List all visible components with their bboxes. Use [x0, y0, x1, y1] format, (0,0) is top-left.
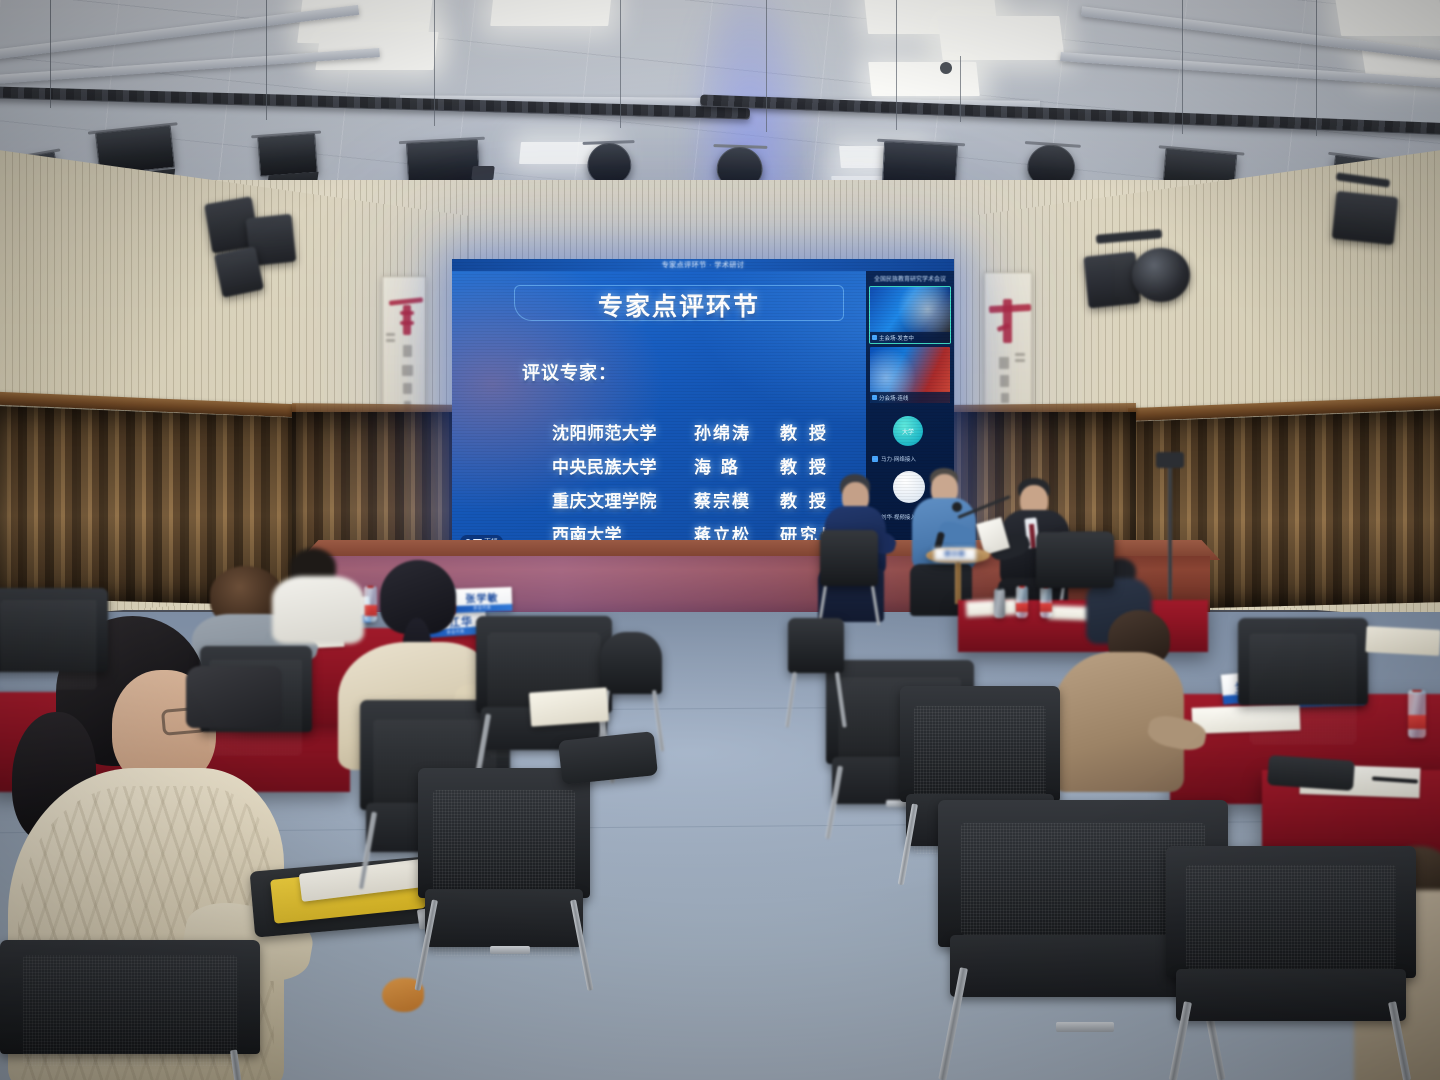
ceiling-panel-light [490, 0, 612, 26]
ptz-dome-camera [1086, 232, 1196, 324]
chair-seat [425, 889, 583, 947]
water-bottle [1408, 690, 1426, 738]
wall-stage-light [196, 188, 296, 298]
table-paper [966, 599, 1019, 618]
light-hanging-cable [50, 0, 51, 108]
slide-title: 专家点评环节 [514, 287, 844, 323]
pole-light-head [1156, 452, 1184, 468]
light-hanging-cable [266, 0, 267, 120]
microphone-icon [872, 395, 877, 400]
stage-chair [820, 530, 878, 626]
light-hanging-cable [766, 0, 767, 132]
scroll-ink-mark [999, 357, 1009, 369]
expert-name: 孙绵涛 [694, 419, 780, 444]
light-hanging-cable [620, 0, 621, 128]
audience-chair [0, 588, 108, 708]
stage-nameplate: 蔡宗模 [934, 548, 976, 561]
chair-back [600, 632, 662, 694]
chair-leg-bracket [490, 946, 530, 954]
scroll-ink-mark [386, 333, 395, 336]
slide-header-text: 专家点评环节 · 学术研讨 [662, 260, 745, 270]
scroll-red-stroke [1003, 299, 1012, 343]
video-tile-caption-bar: 主会场·发言中 [870, 332, 950, 343]
side-table-leg [955, 561, 960, 604]
participant-label: 马力·网络接入 [881, 455, 916, 463]
chair-leg [230, 1050, 242, 1080]
stage-light-fixture [250, 116, 324, 185]
open-book [529, 687, 609, 726]
expert-name: 蔡宗模 [694, 487, 780, 512]
expert-organization: 重庆文理学院 [552, 487, 694, 512]
pole-shaft [1168, 460, 1172, 610]
scroll-ink-mark [403, 345, 412, 357]
mic-boom-arm [957, 495, 1010, 519]
light-housing [214, 246, 264, 298]
audience-chair [1238, 618, 1368, 768]
water-bottle [1016, 586, 1028, 618]
scroll-ink-mark [1015, 359, 1025, 362]
scroll-red-stroke [400, 311, 414, 315]
bottle-label [1408, 715, 1426, 729]
video-tile-caption-bar: 分会场·连线 [870, 392, 950, 403]
bag [186, 666, 282, 728]
chair-mesh-texture [23, 955, 236, 1066]
chair-seat [1176, 969, 1406, 1021]
chair-back [820, 530, 878, 586]
stage-light-pole [1162, 460, 1178, 620]
audience-member-right-tan [1052, 610, 1202, 800]
video-tile-caption: 分会场·连线 [879, 394, 908, 402]
conference-hall-photo: 专家点评环节 · 学术研讨 专家点评环节 评议专家： 沈阳师范大学 孙绵涛 教 … [0, 0, 1440, 1080]
camera-mount-arm [1096, 229, 1163, 244]
audience-chair [0, 940, 260, 1080]
expert-organization: 中央民族大学 [552, 453, 694, 478]
scroll-ink-mark [1015, 353, 1025, 356]
scroll-ink-mark [403, 383, 412, 394]
video-tile-caption: 主会场·发言中 [879, 334, 914, 342]
light-hanging-cable [1182, 0, 1183, 134]
audience-chair [1166, 846, 1416, 1080]
ceiling-speaker [471, 166, 494, 180]
bottle-label [1016, 603, 1028, 613]
scroll-ink-mark [402, 365, 413, 376]
bottle-cap [996, 588, 1002, 590]
light-hanging-cable [1316, 0, 1317, 136]
ceiling-panel-light [937, 16, 1064, 60]
audience-chair [418, 768, 590, 992]
expert-rank: 教 授 [780, 419, 829, 444]
microphone-icon [872, 456, 878, 462]
scroll-ink-mark [1000, 375, 1009, 387]
participant-row[interactable]: 马力·网络接入 [870, 453, 950, 464]
expert-organization: 沈阳师范大学 [552, 419, 694, 444]
audience-chair [1036, 532, 1114, 628]
avatar-label: 大学 [902, 427, 914, 436]
bottle-cap [1019, 586, 1026, 588]
microphone-capsule-icon [952, 502, 962, 512]
chair-back [788, 618, 844, 673]
chair-mesh-texture [1, 600, 98, 689]
stage-nameplate-text: 蔡宗模 [944, 552, 965, 558]
expert-row: 沈阳师范大学 孙绵涛 教 授 [552, 419, 882, 444]
chair-leg-bracket [1056, 1022, 1114, 1032]
participant-avatar[interactable]: 大学 [893, 416, 923, 446]
camera-dome-icon [1132, 248, 1190, 302]
water-thermos [994, 588, 1005, 618]
chair-back [1036, 532, 1114, 588]
ceiling-panel-light [868, 62, 980, 96]
expert-name: 海 路 [694, 453, 780, 478]
scroll-red-stroke [403, 305, 411, 335]
chair-tablet-arm [1267, 755, 1355, 791]
chair-mesh-texture [1250, 633, 1357, 744]
light-hanging-cable [434, 0, 435, 126]
bottle-cap [1412, 690, 1422, 692]
scroll-ink-mark [1001, 393, 1009, 403]
folding-chair [788, 618, 844, 728]
video-panel-title: 全国民族教育研究学术会议 [869, 274, 951, 283]
scroll-ink-mark [386, 339, 395, 342]
video-tile[interactable]: 分会场·连线 [870, 347, 950, 403]
wall-stage-light [1330, 176, 1420, 254]
slide-subtitle: 评议专家： [522, 359, 617, 385]
chair-mesh-texture [1186, 865, 1396, 969]
light-hanging-cable [896, 0, 897, 130]
microphone-icon [872, 335, 877, 340]
ceiling-panel-light [1335, 0, 1440, 36]
table-paper [1365, 626, 1440, 656]
scroll-red-stroke [400, 321, 414, 325]
light-hanging-cable [960, 56, 961, 122]
video-tile[interactable]: 主会场·发言中 [870, 287, 950, 343]
light-housing [1332, 191, 1399, 245]
ceiling-sensor-icon [940, 62, 952, 74]
